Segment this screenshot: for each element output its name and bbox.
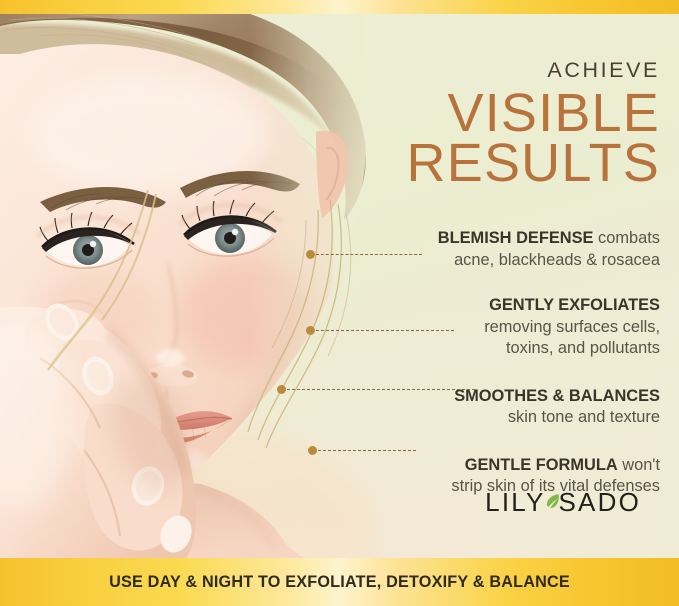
benefit-title: GENTLY EXFOLIATES bbox=[489, 296, 660, 314]
brand-logo: LILY SADO bbox=[485, 487, 641, 518]
leaf-icon bbox=[546, 492, 559, 518]
brand-logo-word-1: LILY bbox=[485, 487, 545, 518]
leader-dot bbox=[306, 250, 315, 259]
leader-dot bbox=[308, 446, 317, 455]
benefit-line-2: acne, blackheads & rosacea bbox=[240, 250, 660, 272]
brand-logo-word-2: SADO bbox=[559, 487, 641, 518]
leader-line-smoothes-and-balances bbox=[277, 389, 475, 390]
benefit-line-3: toxins, and pollutants bbox=[240, 338, 660, 360]
benefit-line-2: skin tone and texture bbox=[240, 407, 660, 429]
leader-line-gentle-formula bbox=[308, 450, 416, 451]
benefit-smoothes-and-balances: SMOOTHES & BALANCES skin tone and textur… bbox=[240, 386, 660, 429]
headline-line-2: RESULTS bbox=[240, 139, 660, 187]
headline-eyebrow: ACHIEVE bbox=[240, 14, 660, 83]
benefit-gently-exfoliates: GENTLY EXFOLIATES removing surfaces cell… bbox=[240, 295, 660, 360]
leader-line-blemish-defense bbox=[306, 254, 422, 255]
benefit-title-suffix: combats bbox=[594, 229, 661, 247]
leader-dot bbox=[277, 385, 286, 394]
leader-dash bbox=[316, 330, 454, 331]
bottom-banner-text: USE DAY & NIGHT TO EXFOLIATE, DETOXIFY &… bbox=[0, 558, 679, 606]
copy-column: ACHIEVE VISIBLE RESULTS BLEMISH DEFENSE … bbox=[240, 14, 660, 498]
leader-dash bbox=[316, 254, 422, 255]
benefit-title: SMOOTHES & BALANCES bbox=[454, 387, 660, 405]
leader-line-gently-exfoliates bbox=[306, 330, 454, 331]
benefit-blemish-defense: BLEMISH DEFENSE combats acne, blackheads… bbox=[240, 228, 660, 271]
headline-line-1: VISIBLE bbox=[240, 89, 660, 137]
leader-dash bbox=[287, 389, 475, 390]
benefit-line-2: removing surfaces cells, bbox=[240, 317, 660, 339]
skincare-benefits-infographic: USE DAY & NIGHT TO EXFOLIATE, DETOXIFY &… bbox=[0, 0, 679, 606]
benefit-title: GENTLE FORMULA bbox=[465, 456, 618, 474]
benefit-title-suffix: won't bbox=[618, 456, 660, 474]
leader-dash bbox=[318, 450, 416, 451]
leader-dot bbox=[306, 326, 315, 335]
benefit-title: BLEMISH DEFENSE bbox=[438, 229, 594, 247]
top-accent-band bbox=[0, 0, 679, 14]
